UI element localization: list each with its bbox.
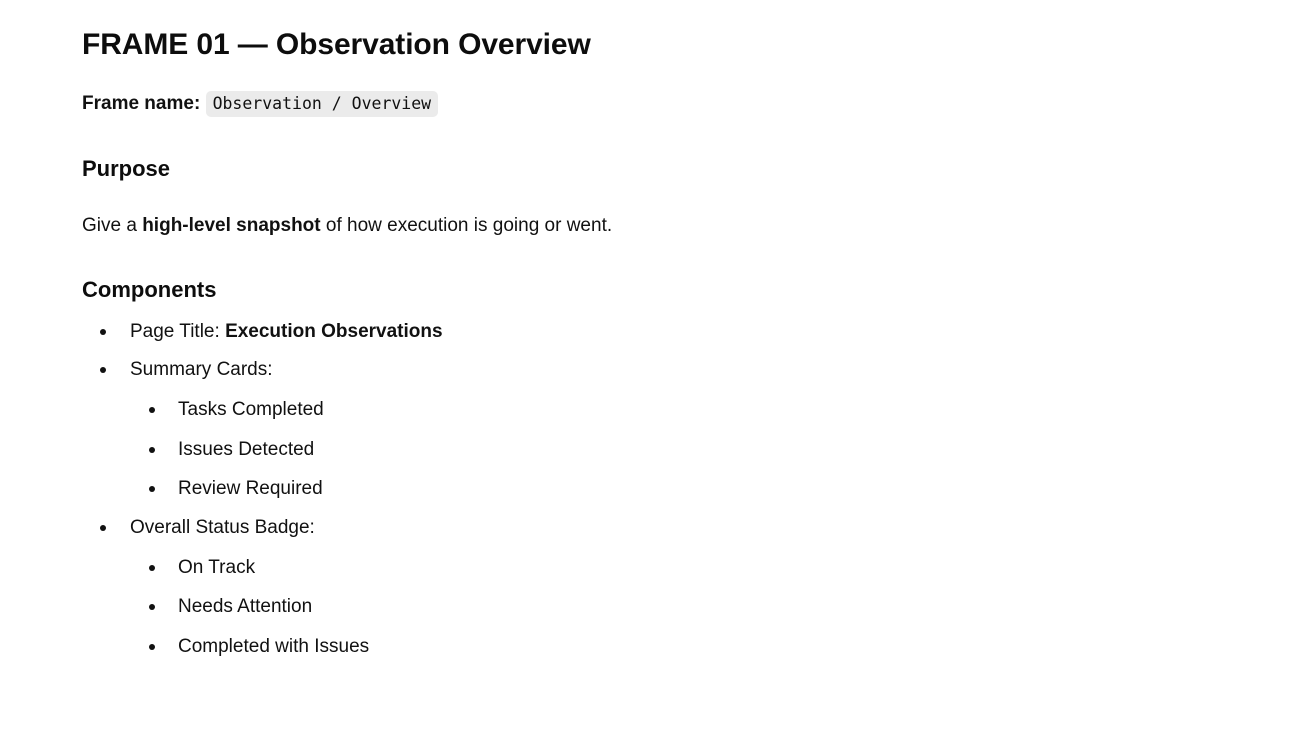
frame-name-label: Frame name: xyxy=(82,93,200,114)
frame-name-value: Observation / Overview xyxy=(206,91,439,117)
list-item: Tasks Completed xyxy=(130,397,1252,423)
sublist-item-label: Issues Detected xyxy=(178,437,1252,463)
status-badge-sublist: On Track Needs Attention Completed with … xyxy=(130,555,1252,660)
list-item: Completed with Issues xyxy=(130,634,1252,660)
purpose-text-after: of how execution is going or went. xyxy=(321,215,613,236)
list-item-label: Page Title: xyxy=(130,321,225,342)
document-page: FRAME 01 — Observation Overview Frame na… xyxy=(0,0,1292,660)
list-item-label: Overall Status Badge: xyxy=(130,515,1252,541)
list-item: Review Required xyxy=(130,476,1252,502)
list-item: Page Title: Execution Observations xyxy=(82,319,1252,345)
list-item: On Track xyxy=(130,555,1252,581)
sublist-item-label: Review Required xyxy=(178,476,1252,502)
list-item: Overall Status Badge: On Track Needs Att… xyxy=(82,515,1252,660)
list-item: Issues Detected xyxy=(130,437,1252,463)
purpose-text-before: Give a xyxy=(82,215,142,236)
section-heading-components: Components xyxy=(82,276,1252,305)
purpose-text-emphasis: high-level snapshot xyxy=(142,215,320,236)
list-item: Summary Cards: Tasks Completed Issues De… xyxy=(82,357,1252,502)
list-item: Needs Attention xyxy=(130,594,1252,620)
sublist-item-label: Completed with Issues xyxy=(178,634,1252,660)
sublist-item-label: Needs Attention xyxy=(178,594,1252,620)
list-item-value: Execution Observations xyxy=(225,321,443,342)
frame-name-line: Frame name: Observation / Overview xyxy=(82,90,1252,119)
sublist-item-label: On Track xyxy=(178,555,1252,581)
components-list: Page Title: Execution Observations Summa… xyxy=(82,319,1252,660)
list-item-label: Summary Cards: xyxy=(130,357,1252,383)
section-heading-purpose: Purpose xyxy=(82,155,1252,184)
purpose-text: Give a high-level snapshot of how execut… xyxy=(82,212,1252,240)
summary-cards-sublist: Tasks Completed Issues Detected Review R… xyxy=(130,397,1252,502)
sublist-item-label: Tasks Completed xyxy=(178,397,1252,423)
list-item-content: Page Title: Execution Observations xyxy=(130,319,1252,345)
page-title: FRAME 01 — Observation Overview xyxy=(82,26,1252,64)
